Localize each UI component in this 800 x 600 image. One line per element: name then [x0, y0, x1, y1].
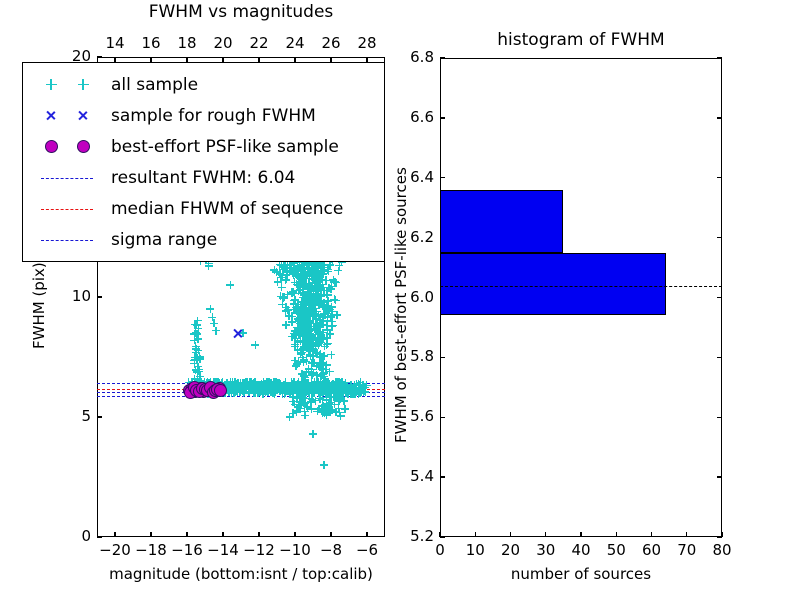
- all-sample-point: [355, 388, 363, 396]
- all-sample-point: [283, 384, 291, 392]
- legend-symbol-dashed-line: [33, 193, 109, 224]
- histogram-y-axis-tick: [440, 117, 445, 118]
- all-sample-point: [194, 346, 202, 354]
- figure-canvas: FWHM vs magnitudes1416182022242628−20−18…: [0, 0, 800, 600]
- all-sample-point: [243, 378, 251, 386]
- all-sample-point: [313, 383, 321, 391]
- histogram-y-axis-tick: [440, 177, 445, 178]
- all-sample-point: [332, 408, 340, 416]
- psf-like-sample-icon: [45, 140, 58, 153]
- psf-like-sample-icon: [77, 140, 90, 153]
- histogram-x-axis-tick-label: 20: [491, 541, 531, 559]
- all-sample-point: [205, 262, 213, 270]
- all-sample-point: [294, 282, 302, 290]
- histogram-y-axis-tick-right: [717, 357, 722, 358]
- histogram-x-axis-tick-label: 80: [702, 541, 742, 559]
- histogram-y-axis-tick-label: 6.6: [392, 108, 434, 126]
- all-sample-point: [309, 290, 317, 298]
- all-sample-point: [294, 262, 302, 270]
- histogram-x-axis-tick-label: 70: [667, 541, 707, 559]
- all-sample-point: [291, 296, 299, 304]
- histogram-x-axis-tick: [616, 532, 617, 537]
- all-sample-point: [296, 401, 304, 409]
- legend-item: resultant FWHM: 6.04: [33, 162, 376, 193]
- all-sample-point: [316, 337, 324, 345]
- all-sample-point: [343, 384, 351, 392]
- all-sample-point: [294, 272, 302, 280]
- all-sample-point: [331, 378, 339, 386]
- all-sample-point: [324, 267, 332, 275]
- all-sample-point: [308, 306, 316, 314]
- all-sample-point: [278, 283, 286, 291]
- histogram-bar: [440, 190, 563, 253]
- histogram-x-axis-tick-label: 60: [632, 541, 672, 559]
- all-sample-point: [319, 301, 327, 309]
- legend-item: best-effort PSF-like sample: [33, 131, 376, 162]
- all-sample-point: [251, 341, 259, 349]
- histogram-reference-line: [440, 286, 722, 287]
- legend-symbol-dashed-line: [33, 162, 109, 193]
- all-sample-point: [320, 461, 328, 469]
- all-sample-point: [329, 322, 337, 330]
- histogram-y-axis-tick-right: [717, 57, 722, 58]
- legend-symbol-x: [33, 100, 109, 131]
- histogram-y-axis-label: FWHM of best-effort PSF-like sources: [392, 167, 410, 443]
- histogram-y-axis-tick-label: 6.8: [392, 48, 434, 66]
- histogram-y-axis-tick-right: [717, 297, 722, 298]
- all-sample-point: [306, 325, 314, 333]
- histogram-y-axis-tick-right: [717, 177, 722, 178]
- legend-line-icon: [41, 178, 93, 179]
- rough-fwhm-icon: [78, 110, 89, 121]
- all-sample-point: [311, 283, 319, 291]
- all-sample-point: [303, 339, 311, 347]
- histogram-y-axis-tick: [440, 57, 445, 58]
- all-sample-point: [297, 305, 305, 313]
- histogram-y-axis-tick-right: [717, 117, 722, 118]
- psf-like-sample-point: [214, 384, 227, 397]
- all-sample-point: [226, 281, 234, 289]
- all-sample-point: [327, 351, 335, 359]
- histogram-x-axis-tick-label: 50: [596, 541, 636, 559]
- all-sample-point: [282, 275, 290, 283]
- all-sample-point: [212, 327, 220, 335]
- histogram-x-axis-tick-label: 30: [526, 541, 566, 559]
- histogram-x-axis-tick: [545, 532, 546, 537]
- all-sample-point: [323, 385, 331, 393]
- legend-item-label: resultant FWHM: 6.04: [111, 168, 295, 188]
- all-sample-icon: [78, 79, 89, 90]
- all-sample-point: [193, 321, 201, 329]
- histogram-x-axis-label: number of sources: [440, 565, 722, 583]
- all-sample-point: [265, 381, 273, 389]
- legend-item: sigma range: [33, 224, 376, 255]
- all-sample-point: [327, 313, 335, 321]
- legend-item-label: sample for rough FWHM: [111, 106, 316, 126]
- all-sample-point: [291, 343, 299, 351]
- all-sample-point: [292, 362, 300, 370]
- legend-item: sample for rough FWHM: [33, 100, 376, 131]
- histogram-y-axis-tick: [440, 417, 445, 418]
- histogram-y-axis-tick: [440, 476, 445, 477]
- legend-item-label: sigma range: [111, 230, 217, 250]
- histogram-x-axis-tick-label: 10: [455, 541, 495, 559]
- all-sample-point: [278, 300, 286, 308]
- all-sample-point: [326, 330, 334, 338]
- histogram-y-axis-tick-right: [717, 417, 722, 418]
- all-sample-point: [275, 384, 283, 392]
- histogram-title: histogram of FWHM: [440, 30, 722, 50]
- all-sample-point: [314, 405, 322, 413]
- all-sample-point: [195, 366, 203, 374]
- legend-symbol-dashdot-line: [33, 224, 109, 255]
- rough-fwhm-point: [232, 328, 243, 339]
- all-sample-point: [319, 394, 327, 402]
- all-sample-point: [299, 313, 307, 321]
- legend-item-label: median FHWM of sequence: [111, 199, 343, 219]
- histogram-bar: [440, 253, 666, 316]
- histogram-y-axis-tick: [440, 536, 445, 537]
- all-sample-point: [295, 331, 303, 339]
- legend-item-label: best-effort PSF-like sample: [111, 137, 339, 157]
- all-sample-point: [317, 361, 325, 369]
- all-sample-point: [191, 353, 199, 361]
- histogram-y-axis-tick-right: [717, 536, 722, 537]
- histogram-y-axis-tick-label: 5.4: [392, 467, 434, 485]
- all-sample-point: [289, 398, 297, 406]
- all-sample-point: [206, 305, 214, 313]
- all-sample-point: [332, 296, 340, 304]
- all-sample-point: [336, 395, 344, 403]
- histogram-x-axis-tick-label: 40: [561, 541, 601, 559]
- histogram-y-axis-tick-right: [717, 237, 722, 238]
- legend-item: median FHWM of sequence: [33, 193, 376, 224]
- histogram-x-axis-tick: [510, 532, 511, 537]
- all-sample-icon: [46, 79, 57, 90]
- all-sample-point: [319, 313, 327, 321]
- histogram-x-axis-tick: [580, 532, 581, 537]
- histogram-y-axis-tick: [440, 357, 445, 358]
- all-sample-point: [335, 262, 343, 270]
- legend-line-icon: [41, 240, 93, 241]
- all-sample-point: [233, 385, 241, 393]
- histogram-x-axis-tick: [651, 532, 652, 537]
- all-sample-point: [332, 279, 340, 287]
- legend-line-icon: [41, 209, 93, 210]
- legend-item-label: all sample: [111, 75, 198, 95]
- rough-fwhm-icon: [46, 110, 57, 121]
- all-sample-point: [194, 335, 202, 343]
- all-sample-point: [310, 268, 318, 276]
- all-sample-point: [309, 347, 317, 355]
- legend-symbol-plus: [33, 69, 109, 100]
- histogram-x-axis-tick: [686, 532, 687, 537]
- histogram-y-axis-tick-label: 5.2: [392, 527, 434, 545]
- all-sample-point: [309, 430, 317, 438]
- legend-item: all sample: [33, 69, 376, 100]
- histogram-x-axis-tick: [475, 532, 476, 537]
- all-sample-point: [280, 293, 288, 301]
- legend-symbol-circle: [33, 131, 109, 162]
- plot-legend: all samplesample for rough FWHMbest-effo…: [22, 62, 385, 262]
- histogram-y-axis-tick-right: [717, 476, 722, 477]
